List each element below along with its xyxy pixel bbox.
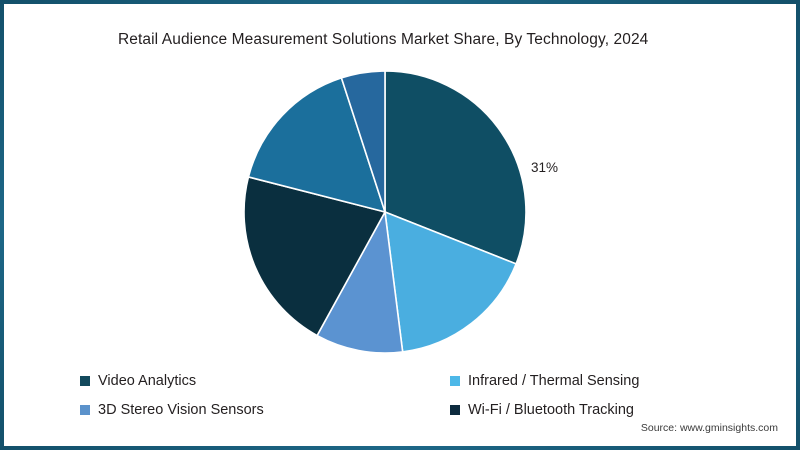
chart-card: Retail Audience Measurement Solutions Ma… <box>0 0 800 450</box>
legend-swatch-icon-video-analytics <box>80 376 90 386</box>
legend-item-3d-stereo-vision-sensors[interactable]: 3D Stereo Vision Sensors <box>80 402 450 418</box>
card-border-bottom <box>0 446 800 450</box>
chart-title: Retail Audience Measurement Solutions Ma… <box>118 31 648 49</box>
card-border-left <box>0 0 4 450</box>
legend-item-wifi-bluetooth-tracking[interactable]: Wi-Fi / Bluetooth Tracking <box>450 402 700 418</box>
legend-swatch-icon-wifi-bluetooth-tracking <box>450 405 460 415</box>
legend-label-video-analytics: Video Analytics <box>98 373 196 389</box>
legend-label-wifi-bluetooth-tracking: Wi-Fi / Bluetooth Tracking <box>468 402 634 418</box>
source-attribution: Source: www.gminsights.com <box>641 422 778 434</box>
legend-label-3d-stereo-vision-sensors: 3D Stereo Vision Sensors <box>98 402 264 418</box>
legend-label-infrared-thermal-sensing: Infrared / Thermal Sensing <box>468 373 639 389</box>
pie-chart <box>243 70 527 354</box>
chart-legend: Video Analytics Infrared / Thermal Sensi… <box>80 366 700 424</box>
legend-item-infrared-thermal-sensing[interactable]: Infrared / Thermal Sensing <box>450 373 700 389</box>
slice-value-label-video-analytics: 31% <box>531 160 558 175</box>
legend-swatch-icon-infrared-thermal-sensing <box>450 376 460 386</box>
pie-slice-group <box>244 71 526 353</box>
pie-chart-svg <box>243 70 527 354</box>
card-border-top <box>0 0 800 4</box>
legend-item-video-analytics[interactable]: Video Analytics <box>80 373 450 389</box>
legend-swatch-icon-3d-stereo-vision-sensors <box>80 405 90 415</box>
card-border-right <box>796 0 800 450</box>
